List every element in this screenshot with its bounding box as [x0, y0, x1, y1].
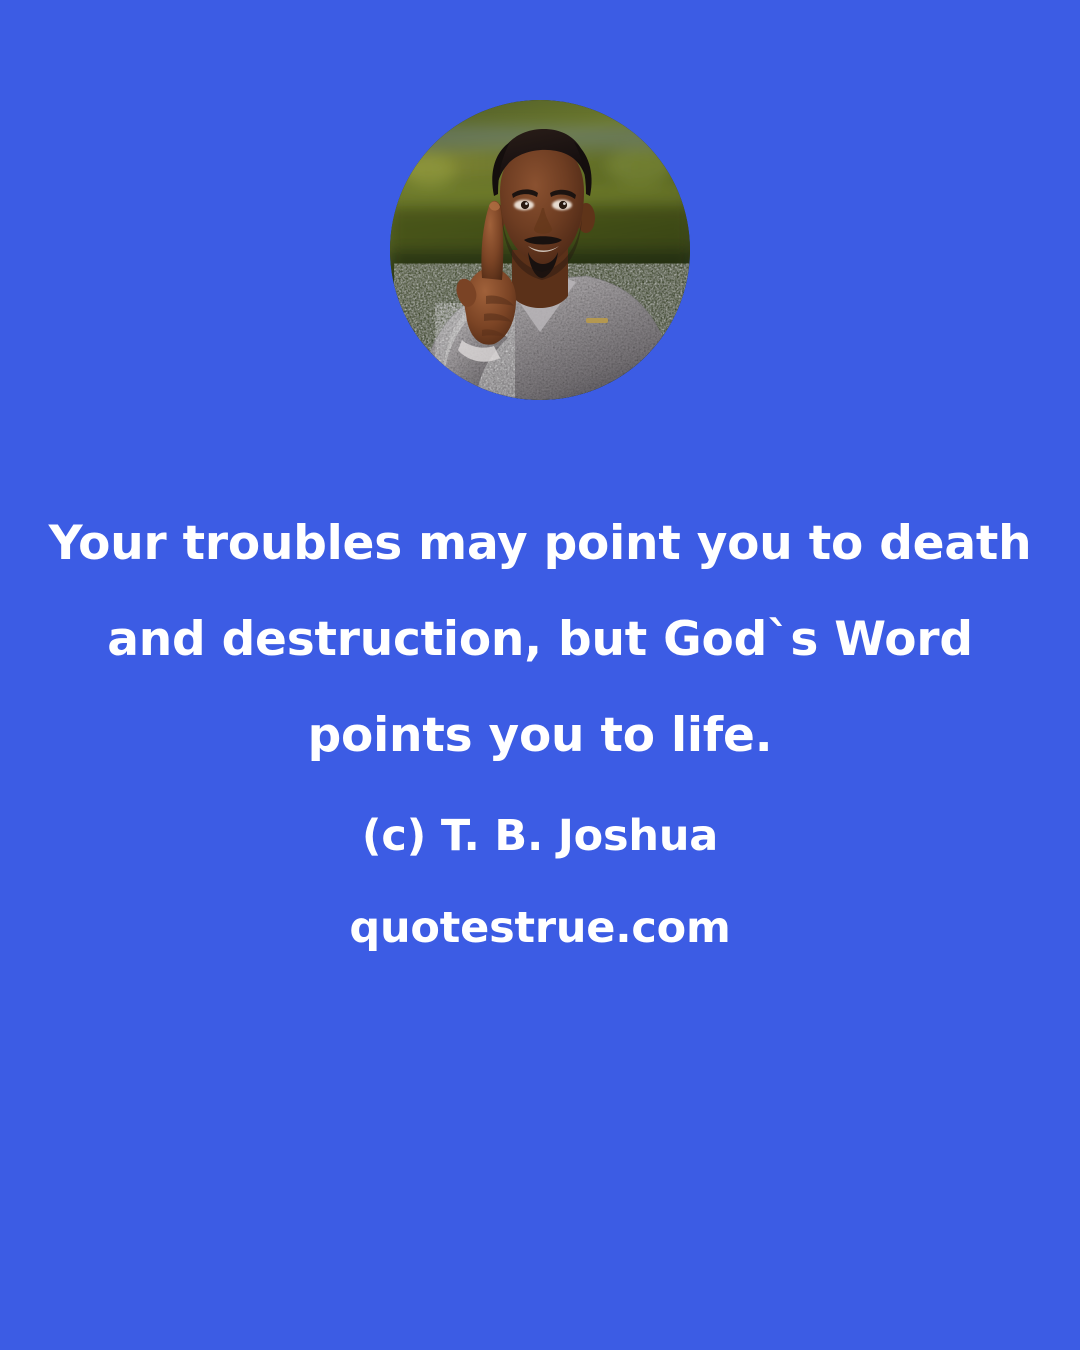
- quote-line-1: Your troubles may point you to death: [0, 496, 1080, 592]
- author-portrait-photo: [390, 100, 690, 400]
- quote-line-2: and destruction, but God`s Word: [0, 592, 1080, 688]
- author-attribution: (c) T. B. Joshua: [0, 806, 1080, 866]
- quote-line-3: points you to life.: [0, 688, 1080, 784]
- source-website: quotestrue.com: [0, 897, 1080, 959]
- quote-card: Your troubles may point you to death and…: [0, 0, 1080, 1350]
- quote-text: Your troubles may point you to death and…: [0, 496, 1080, 784]
- portrait-lapel-pin: [586, 318, 608, 323]
- author-portrait: [390, 100, 690, 400]
